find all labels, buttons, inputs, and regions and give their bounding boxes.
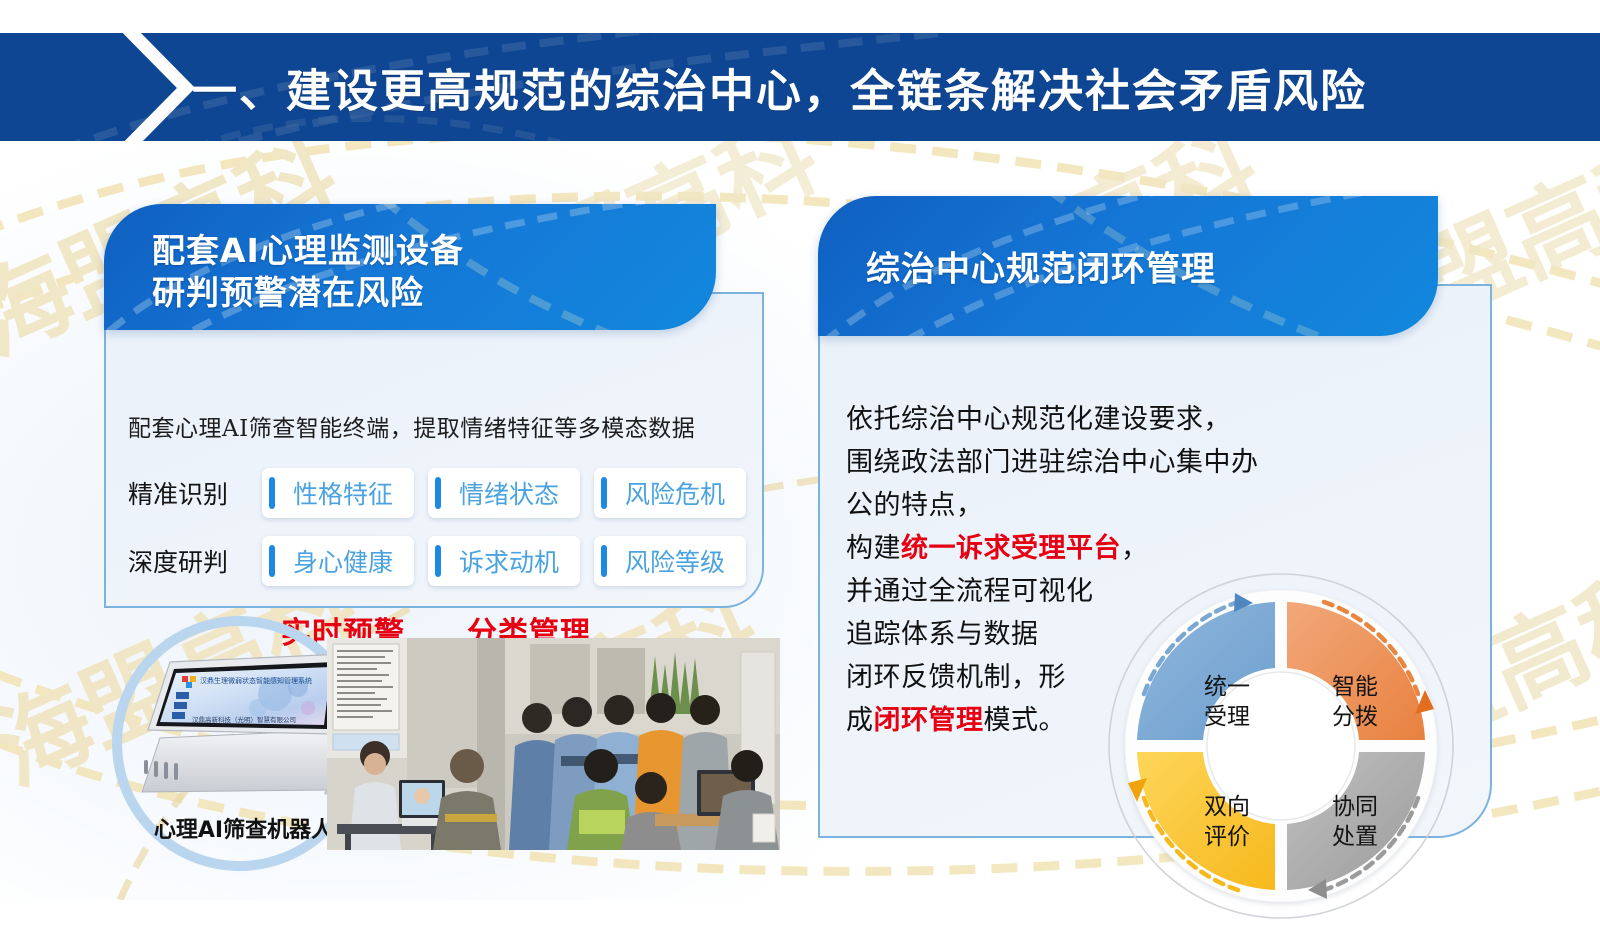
tag-row-2-label: 深度研判 xyxy=(128,543,248,579)
donut-label-bottom-right-line2: 处置 xyxy=(1332,824,1378,850)
tag-chip-label: 风险危机 xyxy=(625,475,725,511)
paragraph-text: 围绕政法部门进驻综治中心集中办公的特点， xyxy=(846,447,1259,521)
tag-chip-label: 风险等级 xyxy=(625,543,725,579)
left-card-body: 配套心理AI筛查智能终端，提取情绪特征等多模态数据 精准识别 性格特征 情绪状态… xyxy=(104,292,764,608)
kiosk-screen-footer: 汉鼎高新科技（光明）智慧有限公司 xyxy=(192,715,296,724)
donut-label-bottom-left-line1: 双向 xyxy=(1204,794,1250,820)
tag-row-1-label: 精准识别 xyxy=(128,475,248,511)
tag-chip[interactable]: 风险危机 xyxy=(594,468,746,518)
tag-chip-label: 性格特征 xyxy=(293,475,393,511)
tag-row-2: 深度研判 身心健康 诉求动机 风险等级 xyxy=(128,536,746,586)
donut-label-top-right-line2: 分拨 xyxy=(1332,704,1378,730)
right-card-header: 综治中心规范闭环管理 xyxy=(818,196,1438,336)
paragraph-text: 追踪体系与数据 xyxy=(846,619,1039,650)
page-title: 一、建设更高规范的综治中心，全链条解决社会矛盾风险 xyxy=(192,55,1367,120)
tag-chip[interactable]: 风险等级 xyxy=(594,536,746,586)
paragraph-highlight: 闭环管理 xyxy=(874,705,984,736)
header-banner: 一、建设更高规范的综治中心，全链条解决社会矛盾风险 xyxy=(0,33,1600,141)
left-card-header: 配套AI心理监测设备 研判预警潜在风险 xyxy=(104,204,716,330)
tag-chip-label: 身心健康 xyxy=(293,543,393,579)
right-card: 依托综治中心规范化建设要求，围绕政法部门进驻综治中心集中办公的特点，构建统一诉求… xyxy=(818,196,1492,838)
donut-label-bottom-left-line2: 评价 xyxy=(1204,824,1250,850)
photo-office-group xyxy=(505,638,780,850)
photo-interview-room xyxy=(327,638,507,850)
tag-row-1: 精准识别 性格特征 情绪状态 风险危机 xyxy=(128,468,746,518)
kiosk-screen-title: 汉鼎生理微弱状态智能感知管理系统 xyxy=(200,676,312,685)
paragraph-text: 并通过全流程可视化 xyxy=(846,576,1094,607)
left-card: 配套心理AI筛查智能终端，提取情绪特征等多模态数据 精准识别 性格特征 情绪状态… xyxy=(104,204,764,608)
tag-chip[interactable]: 诉求动机 xyxy=(428,536,580,586)
right-card-body: 依托综治中心规范化建设要求，围绕政法部门进驻综治中心集中办公的特点，构建统一诉求… xyxy=(818,284,1492,838)
left-card-header-title: 配套AI心理监测设备 研判预警潜在风险 xyxy=(152,230,464,314)
paragraph-highlight: 统一诉求受理平台 xyxy=(901,533,1121,564)
donut-label-top-right-line1: 智能 xyxy=(1332,674,1378,700)
donut-label-top-left-line2: 受理 xyxy=(1204,704,1250,730)
paragraph-text: 依托综治中心规范化建设要求， xyxy=(846,404,1231,435)
tag-chip[interactable]: 性格特征 xyxy=(262,468,414,518)
closed-loop-donut-chart: 统一 受理 智能 分拨 协同 处置 双向 评价 xyxy=(1092,566,1470,926)
left-card-header-line1: 配套AI心理监测设备 xyxy=(152,230,464,272)
tag-chip-label: 情绪状态 xyxy=(459,475,559,511)
tag-chip-label: 诉求动机 xyxy=(459,543,559,579)
paragraph-text: 模式。 xyxy=(984,705,1067,736)
tag-chip[interactable]: 身心健康 xyxy=(262,536,414,586)
chevron-icon xyxy=(112,33,196,141)
paragraph-text: 成 xyxy=(846,705,874,736)
donut-svg: 统一 受理 智能 分拨 协同 处置 双向 评价 xyxy=(1092,566,1470,926)
left-card-header-line2: 研判预警潜在风险 xyxy=(152,272,464,314)
donut-label-bottom-right-line1: 协同 xyxy=(1332,794,1378,820)
donut-label-top-left-line1: 统一 xyxy=(1204,674,1250,700)
psych-ai-kiosk-image: 汉鼎生理微弱状态智能感知管理系统 汉鼎高新科技（光明）智慧有限公司 xyxy=(130,642,345,807)
paragraph-text: ， xyxy=(1121,533,1149,564)
left-card-photo-group: 汉鼎生理微弱状态智能感知管理系统 汉鼎高新科技（光明）智慧有限公司 心理AI筛查… xyxy=(112,612,802,862)
left-card-lead-text: 配套心理AI筛查智能终端，提取情绪特征等多模态数据 xyxy=(128,409,748,443)
paragraph-text: 闭环反馈机制，形 xyxy=(846,662,1066,693)
paragraph-text: 构建 xyxy=(846,533,901,564)
right-card-header-title: 综治中心规范闭环管理 xyxy=(866,242,1216,291)
tag-chip[interactable]: 情绪状态 xyxy=(428,468,580,518)
photo-caption: 心理AI筛查机器人 xyxy=(136,812,351,844)
